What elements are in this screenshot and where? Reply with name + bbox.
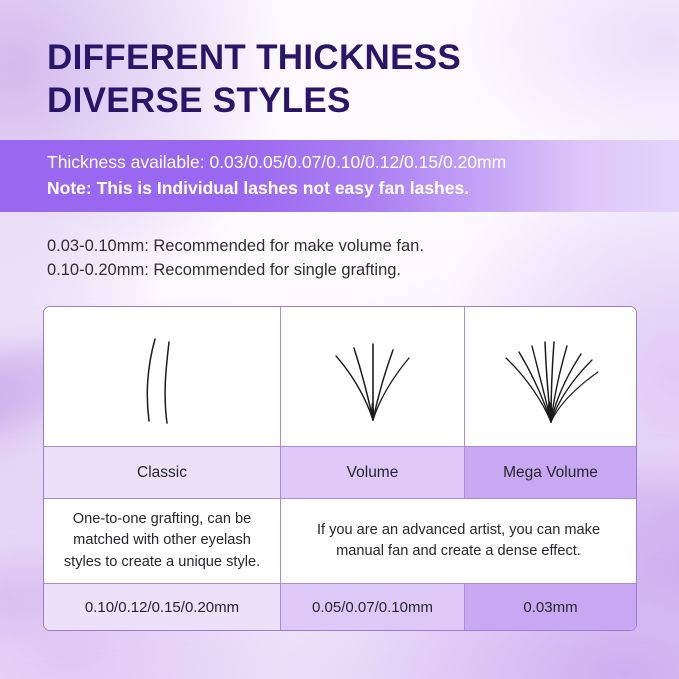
table-row-illustrations [44, 307, 636, 446]
table-row-style-labels: Classic Volume Mega Volume [44, 446, 636, 498]
style-label-volume: Volume [280, 447, 464, 498]
thickness-volume: 0.05/0.07/0.10mm [280, 584, 464, 630]
thickness-classic: 0.10/0.12/0.15/0.20mm [44, 584, 280, 630]
page-title-line-1: DIFFERENT THICKNESS [47, 36, 647, 79]
page-title: DIFFERENT THICKNESS DIVERSE STYLES [47, 36, 647, 122]
description-volume-mega: If you are an advanced artist, you can m… [280, 499, 636, 583]
thickness-available-text: Thickness available: 0.03/0.05/0.07/0.10… [47, 149, 679, 175]
illustration-cell-classic [44, 307, 280, 446]
single-lash-pair-icon [87, 312, 237, 442]
illustration-cell-volume [280, 307, 464, 446]
table-row-thickness-sizes: 0.10/0.12/0.15/0.20mm 0.05/0.07/0.10mm 0… [44, 583, 636, 630]
recommendation-volume-fan: 0.03-0.10mm: Recommended for make volume… [47, 234, 647, 258]
thickness-note-banner: Thickness available: 0.03/0.05/0.07/0.10… [0, 140, 679, 212]
page-title-line-2: DIVERSE STYLES [47, 79, 647, 122]
recommendation-single-grafting: 0.10-0.20mm: Recommended for single graf… [47, 258, 647, 282]
table-row-descriptions: One-to-one grafting, can be matched with… [44, 498, 636, 583]
mega-volume-fan-icon [486, 312, 616, 442]
thickness-mega-volume: 0.03mm [464, 584, 636, 630]
volume-fan-icon [308, 312, 438, 442]
infographic-page: DIFFERENT THICKNESS DIVERSE STYLES Thick… [0, 0, 679, 679]
style-label-classic: Classic [44, 447, 280, 498]
individual-lashes-note: Note: This is Individual lashes not easy… [47, 175, 679, 201]
lash-style-comparison-table: Classic Volume Mega Volume One-to-one gr… [43, 306, 637, 631]
recommendation-list: 0.03-0.10mm: Recommended for make volume… [47, 234, 647, 283]
style-label-mega-volume: Mega Volume [464, 447, 636, 498]
description-classic: One-to-one grafting, can be matched with… [44, 499, 280, 583]
illustration-cell-mega-volume [464, 307, 636, 446]
